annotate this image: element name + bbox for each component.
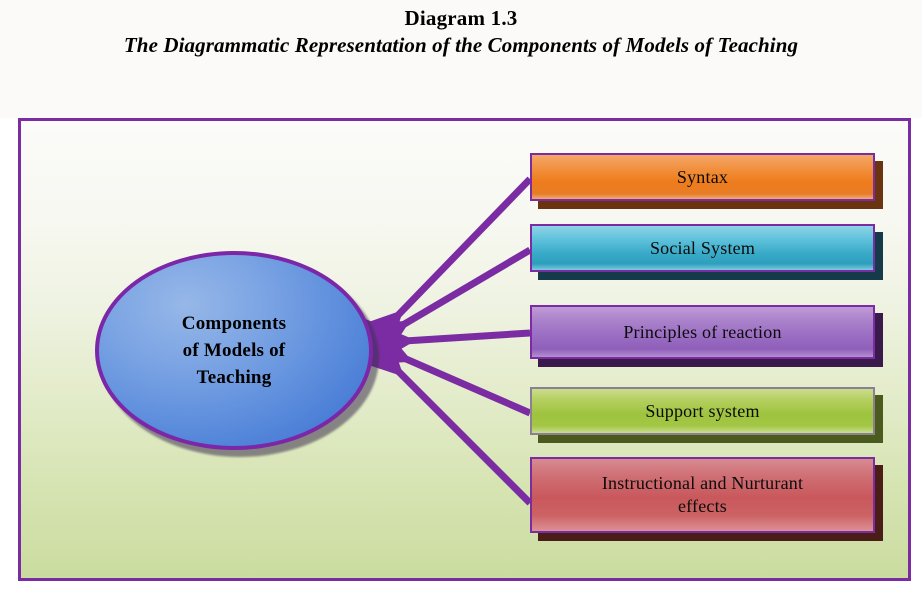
center-node[interactable]: Components of Models of Teaching (95, 251, 373, 450)
component-box-principles-of-reaction[interactable]: Principles of reaction (530, 305, 875, 359)
connector-line-syntax (374, 179, 530, 340)
diagram-title-block: Diagram 1.3 The Diagrammatic Representat… (0, 0, 922, 118)
center-node-ellipse[interactable]: Components of Models of Teaching (95, 251, 373, 450)
component-label-social-system: Social System (650, 237, 755, 260)
component-label-instructional-and-nurturant-effects: Instructional and Nurturant effects (602, 472, 803, 518)
component-label-principles-of-reaction: Principles of reaction (623, 321, 781, 344)
connector-line-social-system (374, 250, 530, 342)
diagram-frame: Components of Models of Teaching Syntax … (18, 118, 911, 581)
component-label-support-system: Support system (645, 400, 759, 423)
center-node-label: Components of Models of Teaching (182, 310, 286, 391)
component-box-social-system[interactable]: Social System (530, 224, 875, 272)
component-box-syntax[interactable]: Syntax (530, 153, 875, 201)
connector-line-instructional-effects (374, 347, 530, 503)
component-box-instructional-and-nurturant-effects[interactable]: Instructional and Nurturant effects (530, 457, 875, 533)
component-label-syntax: Syntax (677, 166, 728, 189)
connector-line-principles-of-reaction (374, 333, 530, 343)
component-box-support-system[interactable]: Support system (530, 387, 875, 435)
connector-line-support-system (374, 345, 530, 413)
diagram-number: Diagram 1.3 (0, 0, 922, 31)
diagram-subtitle: The Diagrammatic Representation of the C… (61, 31, 861, 60)
